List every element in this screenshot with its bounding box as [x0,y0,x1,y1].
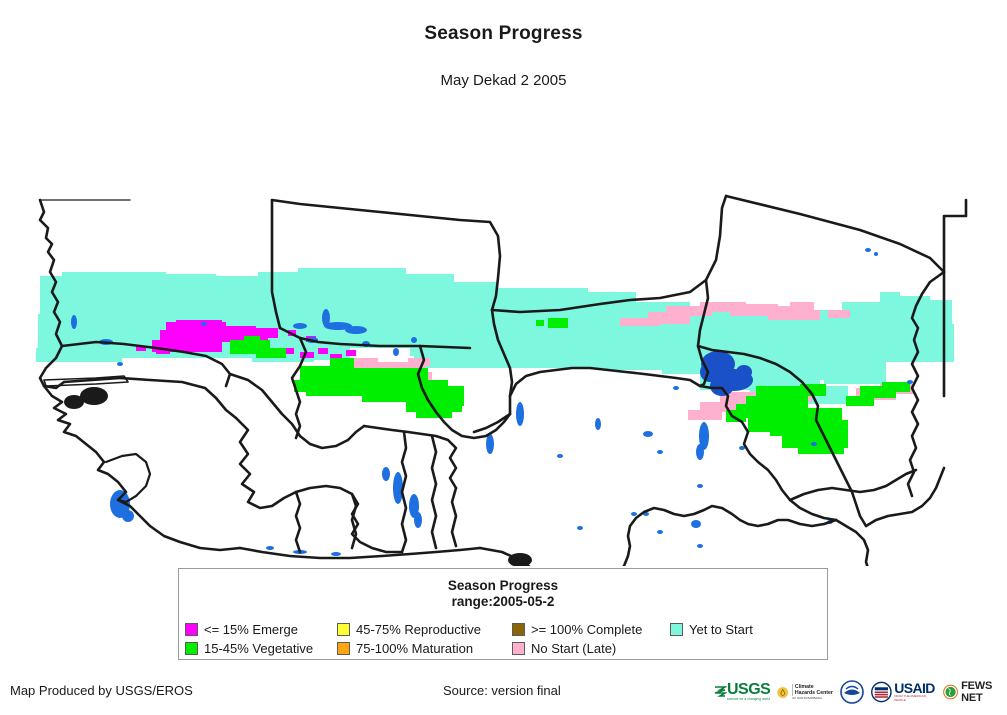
legend-label: No Start (Late) [531,642,616,655]
map-credit: Map Produced by USGS/EROS [10,683,193,698]
legend-item-vegetative[interactable]: 15-45% Vegetative [185,642,337,655]
legend-item-no-start-late[interactable]: No Start (Late) [512,642,670,655]
usaid-wordmark: USAID [894,682,936,694]
usgs-logo: USGS science for a changing world [714,677,770,707]
legend-panel: Season Progress range:2005-05-2 <= 15% E… [178,568,828,660]
legend-label: 75-100% Maturation [356,642,473,655]
usaid-seal-icon [871,681,892,703]
fews-wordmark: FEWS NET [961,680,999,704]
chc-wordmark: Climate Hazards Center [792,684,834,696]
usaid-logo: USAID FROM THE AMERICAN PEOPLE [871,677,936,707]
page-subtitle: May Dekad 2 2005 [0,72,1007,89]
chc-subtext: UC SANTA BARBARA [792,696,834,700]
chc-logo: Climate Hazards Center UC SANTA BARBARA [777,677,833,707]
usgs-tagline: science for a changing world [727,697,770,701]
legend-item-yet-to-start[interactable]: Yet to Start [670,623,825,636]
legend-label: >= 100% Complete [531,623,642,636]
legend-label: 45-75% Reproductive [356,623,481,636]
usgs-wave-icon [714,684,727,700]
africa-season-progress-map[interactable] [0,96,1007,566]
legend-title: Season Progress [179,578,827,594]
swatch-complete-icon [512,623,525,636]
legend-range: range:2005-05-2 [179,594,827,610]
coastline-shading [64,387,606,566]
legend-label: 15-45% Vegetative [204,642,313,655]
legend-label: Yet to Start [689,623,753,636]
legend-item-maturation[interactable]: 75-100% Maturation [337,642,512,655]
chc-droplet-icon [777,684,789,701]
legend-item-reproductive[interactable]: 45-75% Reproductive [337,623,512,636]
swatch-reproductive-icon [337,623,350,636]
noaa-logo [840,677,864,707]
page-title: Season Progress [0,23,1007,45]
fews-logo: FEWS NET [943,677,999,707]
swatch-no-start-late-icon [512,642,525,655]
map-source: Source: version final [443,683,561,698]
legend-item-emerge[interactable]: <= 15% Emerge [185,623,337,636]
map-canvas[interactable] [0,96,1007,566]
swatch-vegetative-icon [185,642,198,655]
swatch-emerge-icon [185,623,198,636]
legend-item-complete[interactable]: >= 100% Complete [512,623,670,636]
logo-strip: USGS science for a changing world Climat… [714,676,999,708]
swatch-yet-to-start-icon [670,623,683,636]
swatch-maturation-icon [337,642,350,655]
usgs-wordmark: USGS [727,683,770,697]
noaa-seal-icon [840,680,864,704]
legend-label: <= 15% Emerge [204,623,298,636]
fews-globe-icon [943,681,958,703]
legend-items: <= 15% Emerge 15-45% Vegetative 45-75% R… [185,620,825,658]
